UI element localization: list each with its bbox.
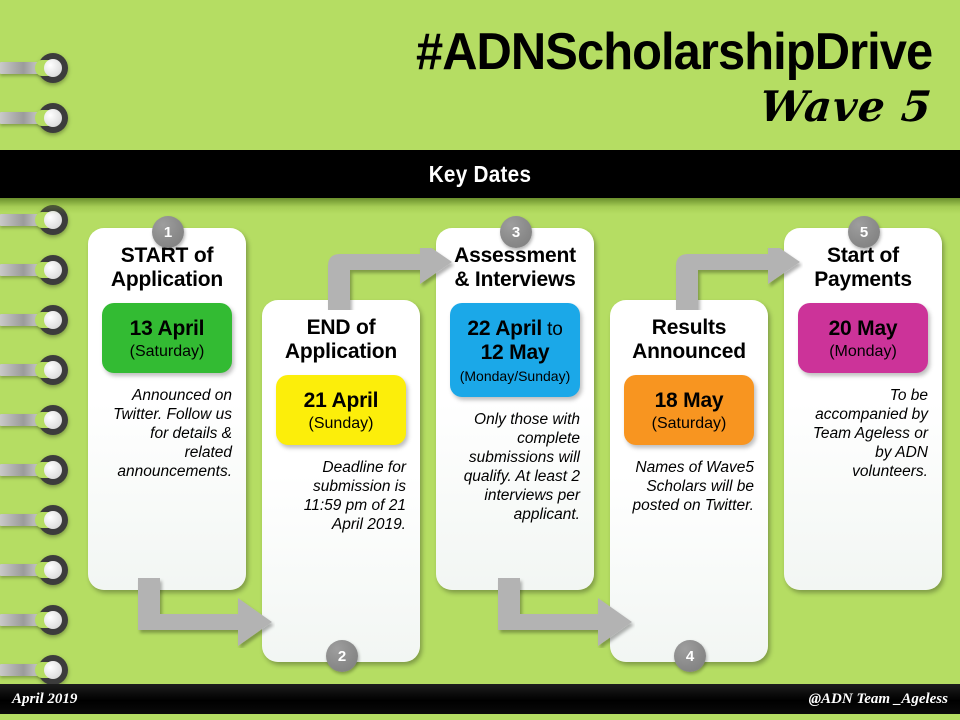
date-end: 12 May (456, 341, 574, 365)
spiral-ring-icon (0, 405, 72, 435)
date-day-of-week: (Saturday) (108, 342, 226, 361)
page-subtitle: Wave 5 (758, 82, 935, 131)
step-number-badge-3: 3 (500, 216, 532, 248)
footer-date: April 2019 (12, 691, 77, 708)
date-primary: 22 April to12 May (456, 317, 574, 365)
date-primary: 13 April (108, 317, 226, 341)
card-note: Deadline for submission is 11:59 pm of 2… (276, 459, 406, 535)
date-badge: 21 April(Sunday) (276, 375, 406, 445)
key-dates-label: Key Dates (429, 161, 532, 188)
step-number-badge-5: 5 (848, 216, 880, 248)
card-title: END of Application (276, 316, 406, 363)
card-note: Announced on Twitter. Follow us for deta… (102, 387, 232, 482)
spiral-ring-circle (38, 355, 68, 385)
spiral-ring-circle (38, 455, 68, 485)
timeline-card-step-2[interactable]: END of Application21 April(Sunday)Deadli… (262, 300, 420, 662)
spiral-ring-icon (0, 355, 72, 385)
card-note: Names of Wave5 Scholars will be posted o… (624, 459, 754, 516)
arrow-step4-to-step5 (668, 248, 803, 310)
spiral-ring-circle (38, 405, 68, 435)
spiral-ring-circle (38, 305, 68, 335)
step-number-badge-2: 2 (326, 640, 358, 672)
card-title: Assessment & Interviews (450, 244, 580, 291)
date-start: 22 April (467, 317, 542, 340)
spiral-ring-icon (0, 305, 72, 335)
page-title: #ADNScholarshipDrive (416, 22, 932, 82)
card-title: Start of Payments (798, 244, 928, 291)
date-badge: 18 May(Saturday) (624, 375, 754, 445)
spiral-ring-icon (0, 255, 72, 285)
footer-credit: @ADN Team _Ageless (809, 691, 948, 708)
step-number-badge-4: 4 (674, 640, 706, 672)
date-primary: 20 May (804, 317, 922, 341)
card-title: START of Application (102, 244, 232, 291)
spiral-ring-circle (38, 605, 68, 635)
timeline-card-step-3[interactable]: Assessment & Interviews22 April to12 May… (436, 228, 594, 590)
date-day-of-week: (Monday) (804, 342, 922, 361)
spiral-ring-icon (0, 655, 72, 685)
header: #ADNScholarshipDrive Wave 5 (0, 0, 960, 148)
spiral-ring-circle (38, 255, 68, 285)
timeline-card-step-5[interactable]: Start of Payments20 May(Monday)To be acc… (784, 228, 942, 590)
date-day-of-week: (Monday/Sunday) (456, 368, 574, 385)
date-connector: to (542, 319, 563, 340)
date-day-of-week: (Saturday) (630, 414, 748, 433)
date-badge: 22 April to12 May(Monday/Sunday) (450, 303, 580, 397)
timeline-card-step-1[interactable]: START of Application13 April(Saturday)An… (88, 228, 246, 590)
date-badge: 20 May(Monday) (798, 303, 928, 373)
footer: April 2019 @ADN Team _Ageless (0, 684, 960, 714)
date-primary: 21 April (282, 389, 400, 413)
spiral-ring-circle (38, 655, 68, 685)
infographic-canvas: #ADNScholarshipDrive Wave 5 Key Dates (0, 0, 960, 720)
banner-shadow (0, 198, 960, 214)
key-dates-banner: Key Dates (0, 150, 960, 198)
date-primary: 18 May (630, 389, 748, 413)
spiral-ring-circle (38, 555, 68, 585)
spiral-ring-circle (38, 505, 68, 535)
arrow-step3-to-step4 (490, 578, 635, 648)
arrow-step1-to-step2 (130, 578, 275, 648)
step-number-badge-1: 1 (152, 216, 184, 248)
arrow-step2-to-step3 (320, 248, 455, 310)
spiral-ring-icon (0, 555, 72, 585)
spiral-ring-icon (0, 605, 72, 635)
date-day-of-week: (Sunday) (282, 414, 400, 433)
spiral-ring-icon (0, 505, 72, 535)
card-title: Results Announced (624, 316, 754, 363)
card-note: To be accompanied by Team Ageless or by … (798, 387, 928, 482)
date-badge: 13 April(Saturday) (102, 303, 232, 373)
spiral-ring-icon (0, 455, 72, 485)
card-note: Only those with complete submissions wil… (450, 411, 580, 524)
